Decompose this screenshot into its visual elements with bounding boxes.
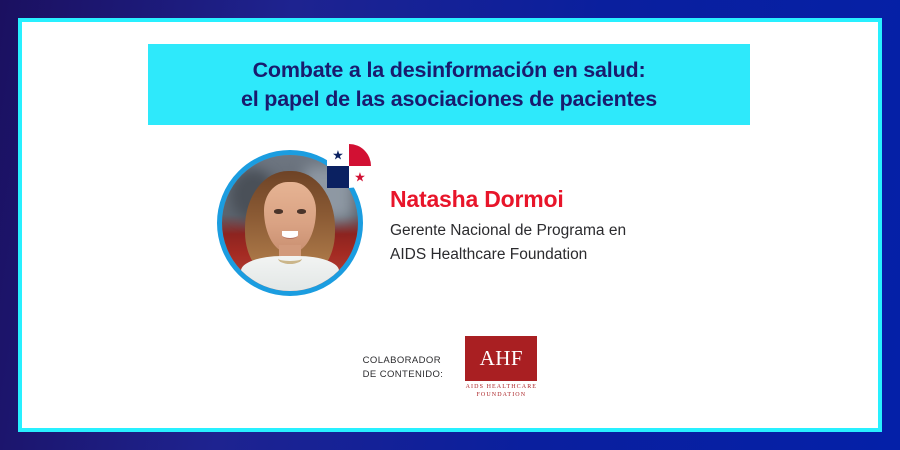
portrait-eye-right: [297, 209, 307, 213]
avatar: ★ ★: [217, 150, 363, 296]
speaker-block: ★ ★ Natasha Dormoi Gerente Nacional de P…: [22, 127, 878, 307]
ahf-logo: AHF AIDS HEALTHCARE FOUNDATION: [465, 336, 537, 400]
flag-quadrant-bottom-left: [327, 166, 349, 188]
ahf-logo-subtitle: AIDS HEALTHCARE FOUNDATION: [466, 383, 537, 400]
page-title: Combate a la desinformación en salud: el…: [241, 56, 657, 113]
flag-quadrant-top-right: [349, 144, 371, 166]
ahf-logo-initials: AHF: [480, 348, 524, 369]
slide-canvas: Combate a la desinformación en salud: el…: [22, 22, 878, 428]
speaker-info: Natasha Dormoi Gerente Nacional de Progr…: [390, 187, 810, 267]
speaker-name: Natasha Dormoi: [390, 187, 810, 212]
collaborator-label: COLABORADOR DE CONTENIDO:: [363, 354, 444, 382]
flag-quadrant-top-left: ★: [327, 144, 349, 166]
flag-star-blue-icon: ★: [332, 149, 344, 162]
ahf-logo-mark: AHF: [465, 336, 537, 381]
panama-flag-icon: ★ ★: [327, 144, 371, 188]
speaker-role: Gerente Nacional de Programa en AIDS Hea…: [390, 219, 810, 267]
portrait-necklace: [278, 253, 302, 264]
portrait-smile: [282, 231, 298, 239]
collaborator-footer: COLABORADOR DE CONTENIDO: AHF AIDS HEALT…: [22, 336, 878, 400]
flag-quadrant-bottom-right: ★: [349, 166, 371, 188]
slide-root: Combate a la desinformación en salud: el…: [0, 0, 900, 450]
flag-star-red-icon: ★: [354, 171, 366, 184]
title-banner: Combate a la desinformación en salud: el…: [148, 44, 750, 125]
portrait-eye-left: [274, 209, 284, 213]
